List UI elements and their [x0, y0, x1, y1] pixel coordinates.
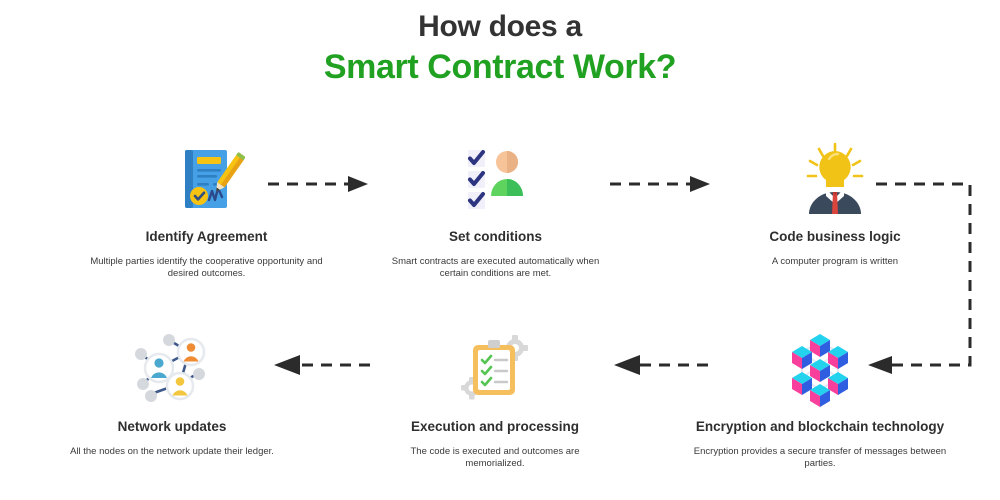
step-description: Smart contracts are executed automatical… — [378, 256, 613, 280]
step-description: All the nodes on the network update thei… — [62, 446, 282, 458]
clipboard-gears-icon — [385, 330, 605, 410]
step-network-updates: Network updates All the nodes on the net… — [62, 330, 282, 458]
step-title: Encryption and blockchain technology — [690, 418, 950, 435]
step-title: Network updates — [62, 418, 282, 435]
step-set-conditions: Set conditions Smart contracts are execu… — [378, 140, 613, 280]
step-encryption-blockchain: Encryption and blockchain technology Enc… — [690, 330, 950, 470]
step-title: Identify Agreement — [74, 228, 339, 245]
step-description: A computer program is written — [710, 256, 960, 268]
step-description: Encryption provides a secure transfer of… — [690, 446, 950, 470]
step-title: Execution and processing — [385, 418, 605, 435]
checklist-person-icon — [378, 140, 613, 220]
page-title: How does a Smart Contract Work? — [0, 8, 1000, 88]
step-code-business-logic: Code business logic A computer program i… — [710, 140, 960, 268]
network-nodes-icon — [62, 330, 282, 410]
lightbulb-head-icon — [710, 140, 960, 220]
step-identify-agreement: Identify Agreement Multiple parties iden… — [74, 140, 339, 280]
title-line-1: How does a — [0, 8, 1000, 46]
step-title: Set conditions — [378, 228, 613, 245]
arrow-step5-to-step6 — [274, 355, 370, 375]
arrow-step2-to-step3 — [610, 176, 710, 192]
step-description: The code is executed and outcomes are me… — [385, 446, 605, 470]
signed-document-icon — [74, 140, 339, 220]
step-description: Multiple parties identify the cooperativ… — [74, 256, 339, 280]
blockchain-cubes-icon — [690, 330, 950, 410]
title-line-2: Smart Contract Work? — [0, 46, 1000, 88]
step-execution-processing: Execution and processing The code is exe… — [385, 330, 605, 470]
step-title: Code business logic — [710, 228, 960, 245]
